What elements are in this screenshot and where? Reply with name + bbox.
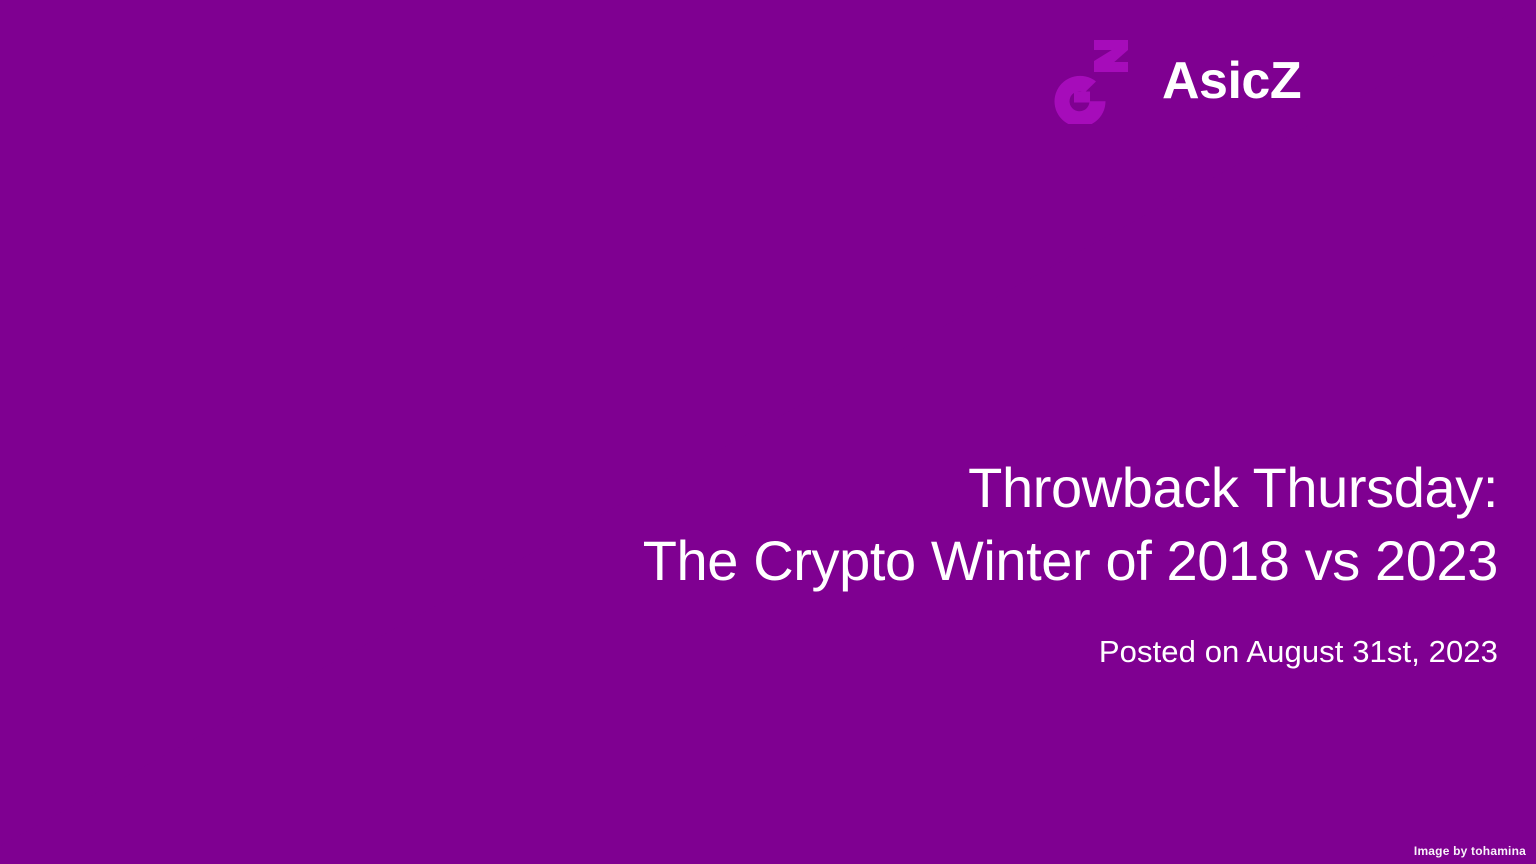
banner-canvas: AsicZ Throwback Thursday: The Crypto Win… <box>0 0 1536 864</box>
headline-block: Throwback Thursday: The Crypto Winter of… <box>518 452 1498 670</box>
title-line-1: Throwback Thursday: <box>518 452 1498 525</box>
posted-date: Posted on August 31st, 2023 <box>518 634 1498 670</box>
asicz-c-z-logo-icon <box>1052 38 1148 124</box>
title-line-2: The Crypto Winter of 2018 vs 2023 <box>518 525 1498 598</box>
logo-wordmark: AsicZ <box>1162 55 1301 107</box>
image-credit: Image by tohamina <box>1414 844 1526 858</box>
brand-logo[interactable]: AsicZ <box>1052 38 1301 124</box>
purple-diagonal-panel <box>0 0 1536 864</box>
